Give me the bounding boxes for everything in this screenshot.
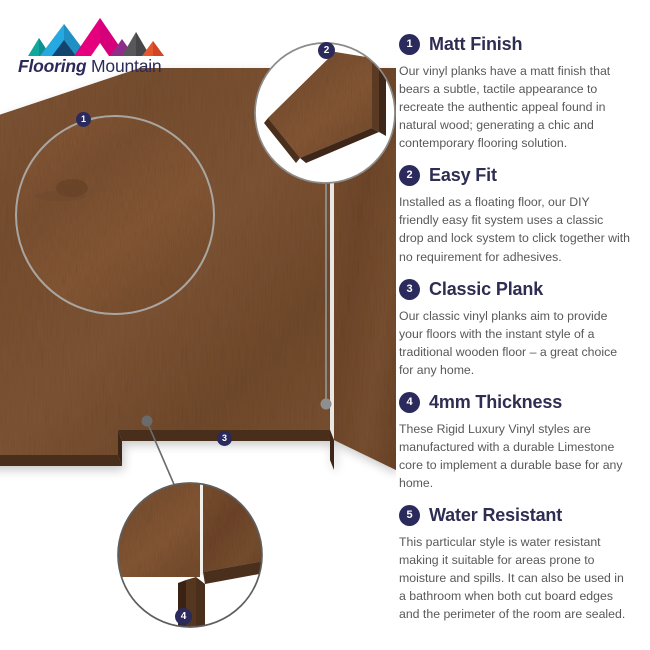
feature-title-5: Water Resistant bbox=[429, 505, 562, 526]
brand-wordmark: Flooring Mountain bbox=[18, 56, 170, 77]
leader-dot-2 bbox=[321, 399, 332, 410]
feature-header: 5 Water Resistant bbox=[399, 505, 644, 526]
feature-body-1: Our vinyl planks have a matt finish that… bbox=[399, 62, 631, 152]
feature-badge-5: 5 bbox=[399, 505, 420, 526]
feature-item-4mm-thickness: 4 4mm Thickness These Rigid Luxury Vinyl… bbox=[399, 392, 644, 492]
callout-badge-1[interactable]: 1 bbox=[76, 112, 91, 127]
feature-badge-1: 1 bbox=[399, 34, 420, 55]
feature-title-1: Matt Finish bbox=[429, 34, 522, 55]
feature-body-5: This particular style is water resistant… bbox=[399, 533, 631, 623]
feature-title-2: Easy Fit bbox=[429, 165, 497, 186]
callout-badge-2[interactable]: 2 bbox=[318, 42, 335, 59]
feature-body-2: Installed as a floating floor, our DIY f… bbox=[399, 193, 631, 265]
leader-dot-3 bbox=[142, 416, 153, 427]
feature-item-easy-fit: 2 Easy Fit Installed as a floating floor… bbox=[399, 165, 644, 265]
feature-header: 3 Classic Plank bbox=[399, 279, 644, 300]
plank-illustration bbox=[0, 0, 396, 650]
callout-1-magnifier bbox=[16, 116, 214, 314]
callout-2-magnifier bbox=[255, 43, 395, 183]
feature-item-water-resistant: 5 Water Resistant This particular style … bbox=[399, 505, 644, 623]
feature-item-classic-plank: 3 Classic Plank Our classic vinyl planks… bbox=[399, 279, 644, 379]
feature-header: 4 4mm Thickness bbox=[399, 392, 644, 413]
feature-title-3: Classic Plank bbox=[429, 279, 543, 300]
feature-badge-3: 3 bbox=[399, 279, 420, 300]
feature-header: 1 Matt Finish bbox=[399, 34, 644, 55]
feature-title-4: 4mm Thickness bbox=[429, 392, 562, 413]
callout-badge-3[interactable]: 3 bbox=[217, 431, 232, 446]
feature-body-3: Our classic vinyl planks aim to provide … bbox=[399, 307, 631, 379]
feature-item-matt-finish: 1 Matt Finish Our vinyl planks have a ma… bbox=[399, 34, 644, 152]
callout-badge-4[interactable]: 4 bbox=[175, 608, 192, 625]
feature-header: 2 Easy Fit bbox=[399, 165, 644, 186]
product-photo: 1 2 3 4 bbox=[0, 0, 396, 650]
feature-badge-4: 4 bbox=[399, 392, 420, 413]
brand-name-part1: Flooring bbox=[18, 56, 86, 76]
feature-body-4: These Rigid Luxury Vinyl styles are manu… bbox=[399, 420, 631, 492]
mountain-range-icon bbox=[18, 16, 168, 58]
feature-badge-2: 2 bbox=[399, 165, 420, 186]
brand-name-part2: Mountain bbox=[86, 56, 161, 76]
feature-list: 1 Matt Finish Our vinyl planks have a ma… bbox=[399, 34, 644, 636]
plank-edge-lower bbox=[0, 455, 122, 466]
brand-logo[interactable]: Flooring Mountain bbox=[18, 16, 168, 78]
infographic-page: 1 2 3 4 bbox=[0, 0, 650, 650]
